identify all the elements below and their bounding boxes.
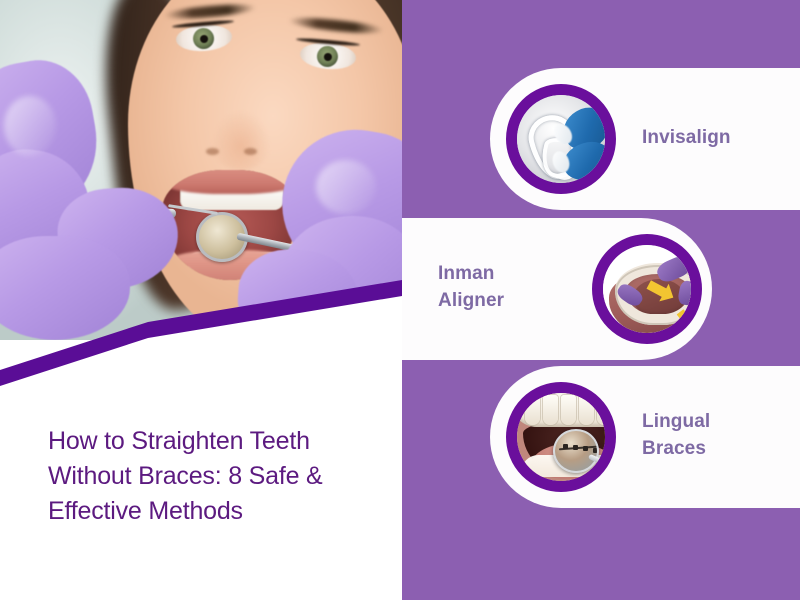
- card-label-lingual-line-1: Lingual: [642, 411, 710, 432]
- pupil-right: [323, 52, 332, 61]
- invisalign-clear-aligner-icon: [506, 84, 616, 194]
- infographic-root: How to Straighten Teeth Without Braces: …: [0, 0, 800, 600]
- card-label-inman-line-2: Aligner: [438, 290, 504, 311]
- iris-left: [192, 27, 214, 49]
- card-label-lingual-line-2: Braces: [642, 438, 706, 459]
- pupil-left: [199, 34, 208, 43]
- braces-bracket: [573, 445, 578, 450]
- braces-bracket: [563, 444, 568, 449]
- card-label-lingual-braces: Lingual Braces: [642, 408, 710, 462]
- nose: [206, 92, 276, 170]
- card-label-inman-line-1: Inman: [438, 263, 494, 284]
- card-lingual-braces[interactable]: Lingual Braces: [490, 366, 800, 508]
- braces-bracket: [593, 448, 598, 453]
- inman-aligner-image: [603, 245, 691, 333]
- page-title-line-1: How to Straighten Teeth: [48, 427, 310, 455]
- glove-highlight-right: [316, 160, 376, 214]
- braces-bracket: [583, 446, 588, 451]
- card-invisalign[interactable]: Invisalign: [490, 68, 800, 210]
- invisalign-image: [517, 95, 605, 183]
- tooth: [561, 395, 576, 425]
- iris-right: [316, 45, 339, 68]
- intraoral-mirror-icon: [553, 429, 599, 473]
- right-column: Invisalign Inman Al: [402, 0, 800, 600]
- left-column: How to Straighten Teeth Without Braces: …: [0, 0, 402, 600]
- card-label-inman-aligner: Inman Aligner: [438, 260, 504, 314]
- nostril-right: [244, 148, 257, 155]
- inman-aligner-model-icon: [592, 234, 702, 344]
- hero-photo: [0, 0, 402, 340]
- lingual-braces-image: [517, 393, 605, 481]
- page-title-line-3: Effective Methods: [48, 497, 243, 525]
- card-inman-aligner[interactable]: Inman Aligner: [402, 218, 712, 360]
- tooth: [597, 395, 612, 425]
- tooth: [579, 395, 594, 425]
- upper-lip: [162, 170, 298, 194]
- lingual-braces-mouth-mirror-icon: [506, 382, 616, 492]
- glove-highlight-left: [4, 96, 56, 156]
- nostril-left: [206, 148, 219, 155]
- tooth: [543, 395, 558, 425]
- page-title-line-2: Without Braces: 8 Safe &: [48, 462, 323, 490]
- tooth: [525, 395, 540, 425]
- card-label-invisalign: Invisalign: [642, 124, 731, 151]
- page-title: How to Straighten Teeth Without Braces: …: [48, 424, 378, 529]
